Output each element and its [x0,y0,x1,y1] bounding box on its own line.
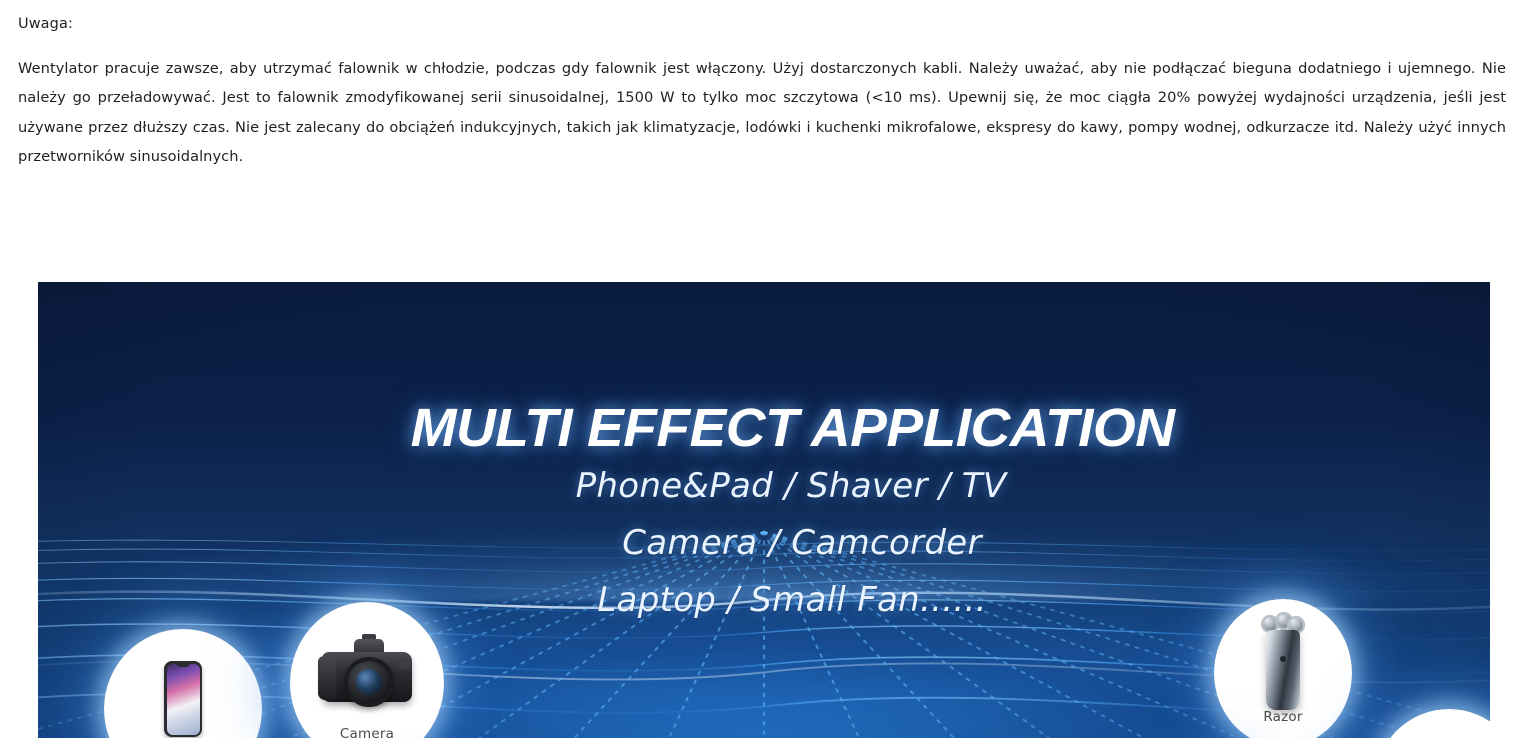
dslr-camera-icon [290,620,444,724]
banner-headline: MULTI EFFECT APPLICATION [411,400,1166,456]
banner-subheadline: Phone&Pad / Shaver / TV Camera / Camcord… [458,458,1118,629]
notice-heading: Uwaga: [18,14,1508,34]
product-bubble-camera: Camera [290,602,444,738]
bubble-label-camera: Camera [340,726,394,738]
smartphone-icon [104,651,262,738]
subheadline-line-2: Camera / Camcorder [458,515,1118,572]
subheadline-line-3: Laptop / Small Fan...... [458,572,1118,629]
handheld-console-icon [1375,725,1490,738]
product-bubble-razor: Razor [1214,599,1352,738]
notice-body-paragraph: Wentylator pracuje zawsze, aby utrzymać … [18,54,1506,172]
notice-section: Uwaga: Wentylator pracuje zawsze, aby ut… [18,14,1508,172]
bubble-label-razor: Razor [1263,709,1302,725]
promo-banner: MULTI EFFECT APPLICATION Phone&Pad / Sha… [38,282,1490,738]
electric-shaver-icon [1214,609,1352,713]
subheadline-line-1: Phone&Pad / Shaver / TV [458,458,1118,515]
